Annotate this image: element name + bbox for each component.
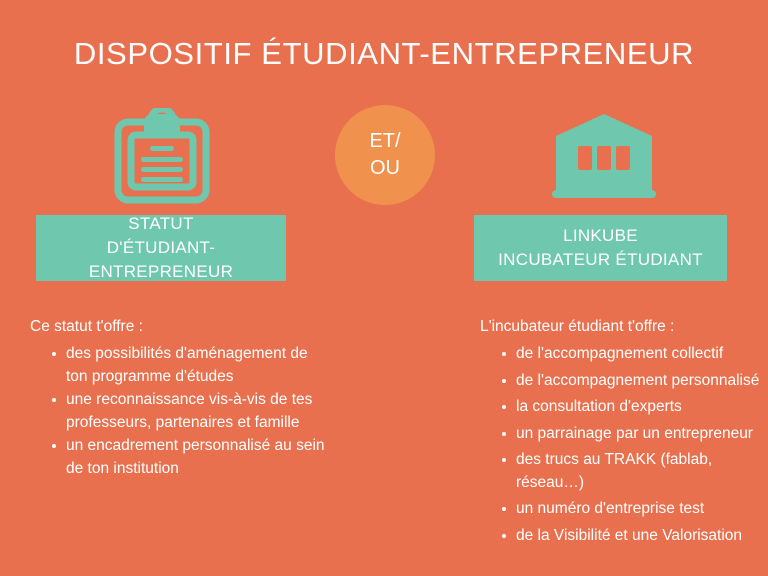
banner-linkube: LINKUBE INCUBATEUR ÉTUDIANT — [474, 215, 727, 281]
list-item: un numéro d'entreprise test — [502, 498, 760, 521]
list-item: une reconnaissance vis-à-vis de tes prof… — [52, 389, 330, 434]
building-icon — [548, 110, 660, 200]
list-item: la consultation d'experts — [502, 396, 760, 419]
et-ou-line2: OU — [370, 155, 400, 182]
left-intro-text: Ce statut t'offre : — [30, 316, 330, 338]
list-item: un parrainage par un entrepreneur — [502, 423, 760, 446]
list-item: de l'accompagnement collectif — [502, 343, 760, 366]
list-item: de l'accompagnement personnalisé — [502, 370, 760, 393]
et-ou-line1: ET/ — [369, 128, 400, 155]
right-content-column: L'incubateur étudiant t'offre : de l'acc… — [480, 316, 760, 551]
list-item: des possibilités d'aménagement de ton pr… — [52, 343, 330, 388]
right-bullet-list: de l'accompagnement collectif de l'accom… — [480, 343, 760, 547]
et-ou-badge: ET/ OU — [335, 105, 435, 205]
banner-statut-line1: STATUT — [128, 212, 193, 236]
right-intro-text: L'incubateur étudiant t'offre : — [480, 316, 760, 338]
clipboard-icon — [112, 108, 212, 204]
banner-linkube-line2: INCUBATEUR ÉTUDIANT — [498, 248, 703, 272]
list-item: des trucs au TRAKK (fablab, réseau…) — [502, 449, 760, 494]
list-item: un encadrement personnalisé au sein de t… — [52, 435, 330, 480]
left-content-column: Ce statut t'offre : des possibilités d'a… — [30, 316, 330, 481]
infographic-canvas: DISPOSITIF ÉTUDIANT-ENTREPRENEUR ET/ OU — [0, 0, 768, 576]
banner-statut-line2: D'ÉTUDIANT-ENTREPRENEUR — [36, 236, 286, 284]
banner-linkube-line1: LINKUBE — [563, 224, 638, 248]
page-title: DISPOSITIF ÉTUDIANT-ENTREPRENEUR — [0, 36, 768, 72]
banner-statut: STATUT D'ÉTUDIANT-ENTREPRENEUR — [36, 215, 286, 281]
list-item: de la Visibilité et une Valorisation — [502, 525, 760, 548]
left-bullet-list: des possibilités d'aménagement de ton pr… — [30, 343, 330, 480]
